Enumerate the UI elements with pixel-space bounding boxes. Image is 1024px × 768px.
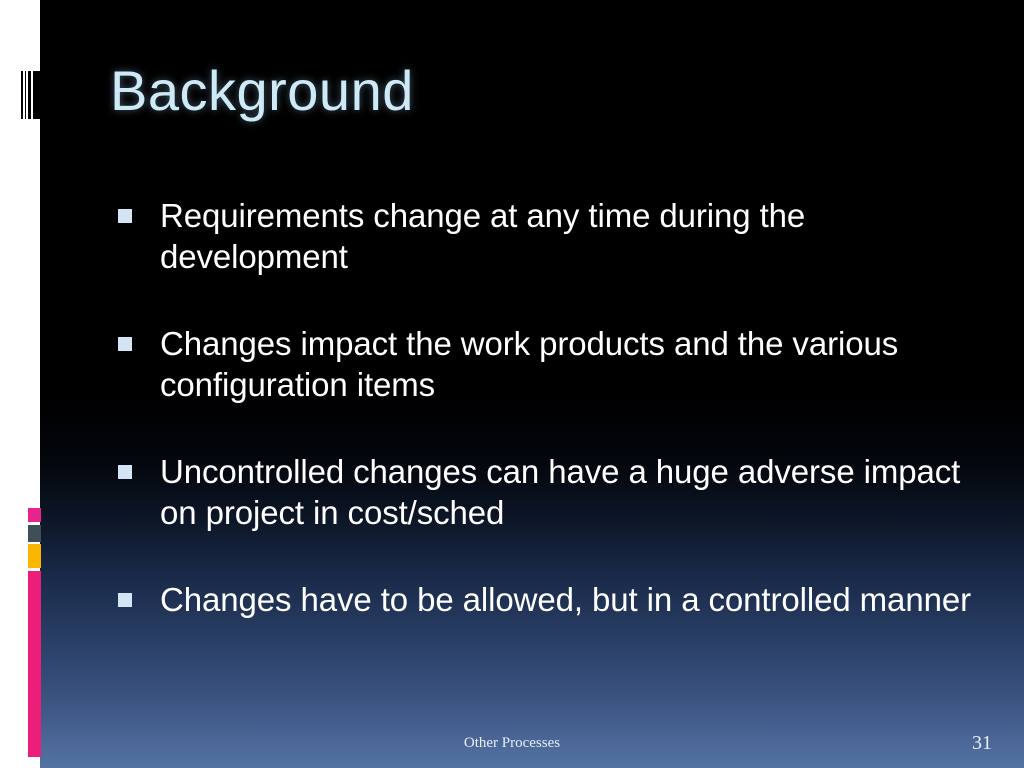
bar-segment xyxy=(33,71,40,119)
color-chip-slate xyxy=(28,525,41,542)
slide-page-number: 31 xyxy=(972,732,992,755)
bullet-list: Requirements change at any time during t… xyxy=(118,196,978,621)
square-bullet-icon xyxy=(118,465,132,479)
list-item: Changes impact the work products and the… xyxy=(118,324,978,405)
color-chip-pink-top xyxy=(28,508,41,522)
bar-segment xyxy=(25,71,27,119)
slide-title: Background xyxy=(110,62,414,121)
bar-segment xyxy=(21,71,23,119)
square-bullet-icon xyxy=(118,209,132,223)
list-item-text: Changes impact the work products and the… xyxy=(160,324,978,405)
list-item-text: Changes have to be allowed, but in a con… xyxy=(160,580,978,621)
list-item: Requirements change at any time during t… xyxy=(118,196,978,277)
color-chip-pink-long xyxy=(28,571,41,757)
square-bullet-icon xyxy=(118,593,132,607)
presentation-slide: Background Requirements change at any ti… xyxy=(0,0,1024,768)
bar-segment xyxy=(28,71,31,119)
list-item: Uncontrolled changes can have a huge adv… xyxy=(118,452,978,533)
list-item-text: Requirements change at any time during t… xyxy=(160,196,978,277)
list-item: Changes have to be allowed, but in a con… xyxy=(118,580,978,621)
square-bullet-icon xyxy=(118,337,132,351)
list-item-text: Uncontrolled changes can have a huge adv… xyxy=(160,452,978,533)
barcode-decoration-icon xyxy=(21,71,40,119)
color-chip-amber xyxy=(28,544,41,568)
slide-footer-label: Other Processes xyxy=(0,735,1024,752)
